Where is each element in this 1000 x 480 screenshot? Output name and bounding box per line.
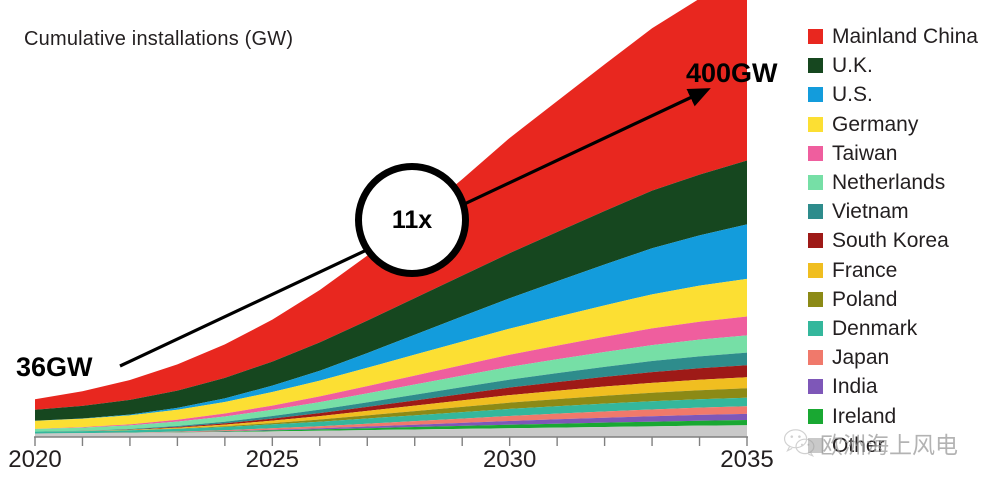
legend-item[interactable]: Taiwan xyxy=(808,139,1000,168)
legend-color-swatch xyxy=(808,263,823,278)
annotation-end-value: 400GW xyxy=(686,58,778,89)
legend-color-swatch xyxy=(808,175,823,190)
legend-item-label: South Korea xyxy=(832,230,949,251)
legend-item[interactable]: Netherlands xyxy=(808,168,1000,197)
legend-color-swatch xyxy=(808,117,823,132)
legend-item-label: U.K. xyxy=(832,55,873,76)
legend-color-swatch xyxy=(808,204,823,219)
legend-item[interactable]: U.K. xyxy=(808,51,1000,80)
x-axis-tick-label: 2025 xyxy=(246,446,299,474)
legend-item[interactable]: Ireland xyxy=(808,401,1000,430)
legend-color-swatch xyxy=(808,438,823,453)
legend-item[interactable]: Japan xyxy=(808,343,1000,372)
legend-item-label: Taiwan xyxy=(832,143,897,164)
legend-item-label: Denmark xyxy=(832,318,917,339)
legend-color-swatch xyxy=(808,379,823,394)
legend-item-label: Other xyxy=(832,435,885,456)
legend-color-swatch xyxy=(808,233,823,248)
legend-item[interactable]: Germany xyxy=(808,110,1000,139)
legend-item-label: Poland xyxy=(832,289,897,310)
legend-color-swatch xyxy=(808,321,823,336)
legend-item[interactable]: India xyxy=(808,372,1000,401)
x-axis-tick-label: 2035 xyxy=(720,446,773,474)
legend-color-swatch xyxy=(808,292,823,307)
legend-item-label: India xyxy=(832,376,878,397)
legend-item[interactable]: South Korea xyxy=(808,226,1000,255)
legend-item[interactable]: Vietnam xyxy=(808,197,1000,226)
legend-item-label: Vietnam xyxy=(832,201,909,222)
legend-item[interactable]: France xyxy=(808,256,1000,285)
legend-item[interactable]: Denmark xyxy=(808,314,1000,343)
legend-item-label: U.S. xyxy=(832,84,873,105)
legend-color-swatch xyxy=(808,409,823,424)
legend-color-swatch xyxy=(808,87,823,102)
chart-legend: Mainland ChinaU.K.U.S.GermanyTaiwanNethe… xyxy=(808,22,1000,460)
legend-item[interactable]: U.S. xyxy=(808,80,1000,109)
legend-item-label: France xyxy=(832,260,897,281)
legend-item-label: Mainland China xyxy=(832,26,978,47)
x-axis-tick-label: 2030 xyxy=(483,446,536,474)
legend-item-label: Germany xyxy=(832,114,918,135)
legend-item[interactable]: Poland xyxy=(808,285,1000,314)
legend-color-swatch xyxy=(808,29,823,44)
x-axis-tick-label: 2020 xyxy=(8,446,61,474)
legend-item-label: Netherlands xyxy=(832,172,945,193)
legend-color-swatch xyxy=(808,146,823,161)
annotation-start-value: 36GW xyxy=(16,352,93,383)
legend-item[interactable]: Other xyxy=(808,431,1000,460)
legend-color-swatch xyxy=(808,350,823,365)
legend-item-label: Ireland xyxy=(832,406,896,427)
legend-item[interactable]: Mainland China xyxy=(808,22,1000,51)
annotation-growth-multiple: 11x xyxy=(355,163,469,277)
legend-item-label: Japan xyxy=(832,347,889,368)
legend-color-swatch xyxy=(808,58,823,73)
